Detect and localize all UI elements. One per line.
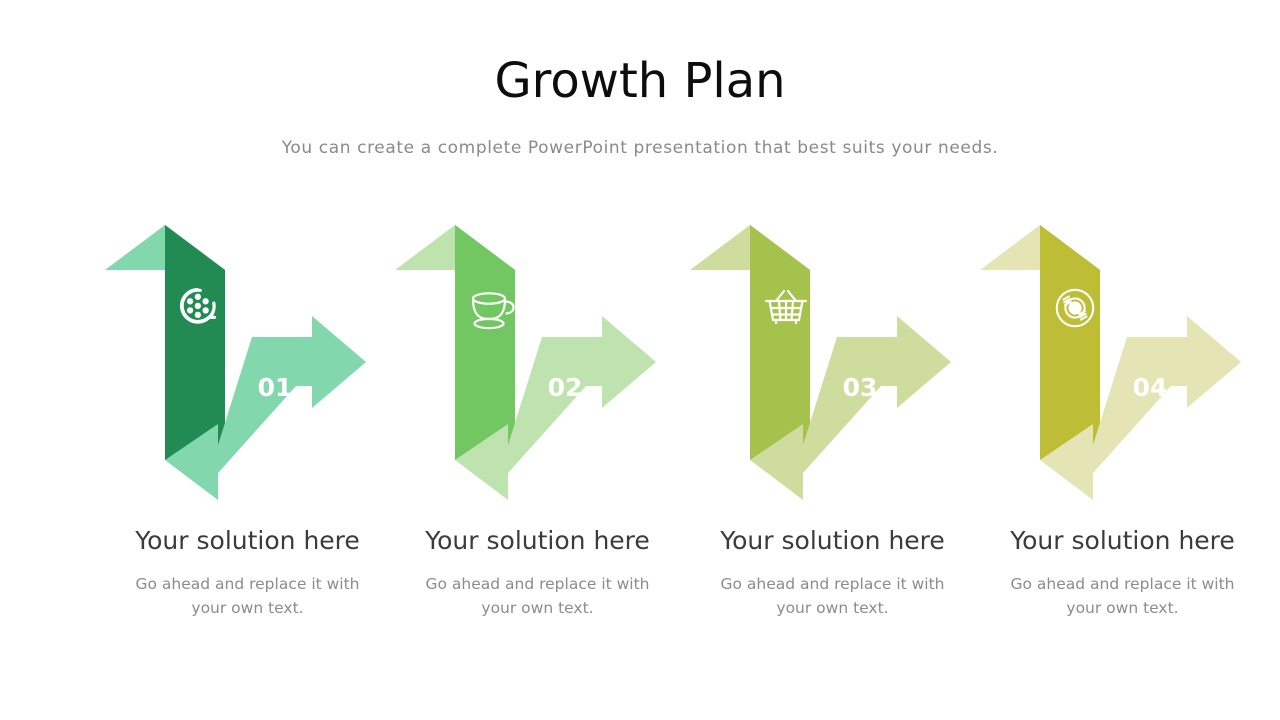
step-3-arrow-svg: 03: [685, 210, 980, 510]
step-2-number: 02: [548, 373, 583, 402]
step-3-arrow-graphic[interactable]: 03: [685, 210, 980, 510]
growth-step-1[interactable]: 01 Your solution here Go ah: [100, 210, 395, 650]
step-2-body: Go ahead and replace it with your own te…: [412, 572, 663, 620]
arrow-body-3: [750, 225, 810, 460]
step-3-body: Go ahead and replace it with your own te…: [707, 572, 958, 620]
growth-step-2[interactable]: 02 Your solution here Go ahead and repla…: [390, 210, 685, 650]
step-4-arrow-graphic[interactable]: 04: [975, 210, 1270, 510]
step-1-arrow-graphic[interactable]: 01: [100, 210, 395, 510]
arrow-body-4: [1040, 225, 1100, 460]
arrow-head-light-4: [980, 225, 1040, 270]
step-4-heading: Your solution here: [975, 525, 1270, 557]
page-title: Growth Plan: [0, 52, 1280, 110]
step-1-number: 01: [258, 373, 293, 402]
growth-step-4[interactable]: 04 Your solution h: [975, 210, 1270, 650]
step-4-body: Go ahead and replace it with your own te…: [997, 572, 1248, 620]
growth-step-3[interactable]: 03: [685, 210, 980, 650]
step-2-arrow-svg: 02: [390, 210, 685, 510]
step-2-heading: Your solution here: [390, 525, 685, 557]
arrow-body-1: [165, 225, 225, 460]
arrow-head-light-2: [395, 225, 455, 270]
step-3-number: 03: [843, 373, 878, 402]
step-1-heading: Your solution here: [100, 525, 395, 557]
step-4-number: 04: [1133, 373, 1168, 402]
arrow-head-light-3: [690, 225, 750, 270]
slide-canvas: Growth Plan You can create a complete Po…: [0, 0, 1280, 720]
step-1-body: Go ahead and replace it with your own te…: [122, 572, 373, 620]
step-1-arrow-svg: 01: [100, 210, 395, 510]
step-4-arrow-svg: 04: [975, 210, 1270, 510]
step-3-heading: Your solution here: [685, 525, 980, 557]
arrow-head-light-1: [105, 225, 165, 270]
step-2-arrow-graphic[interactable]: 02: [390, 210, 685, 510]
page-subtitle: You can create a complete PowerPoint pre…: [0, 138, 1280, 158]
arrow-body-2: [455, 225, 515, 460]
